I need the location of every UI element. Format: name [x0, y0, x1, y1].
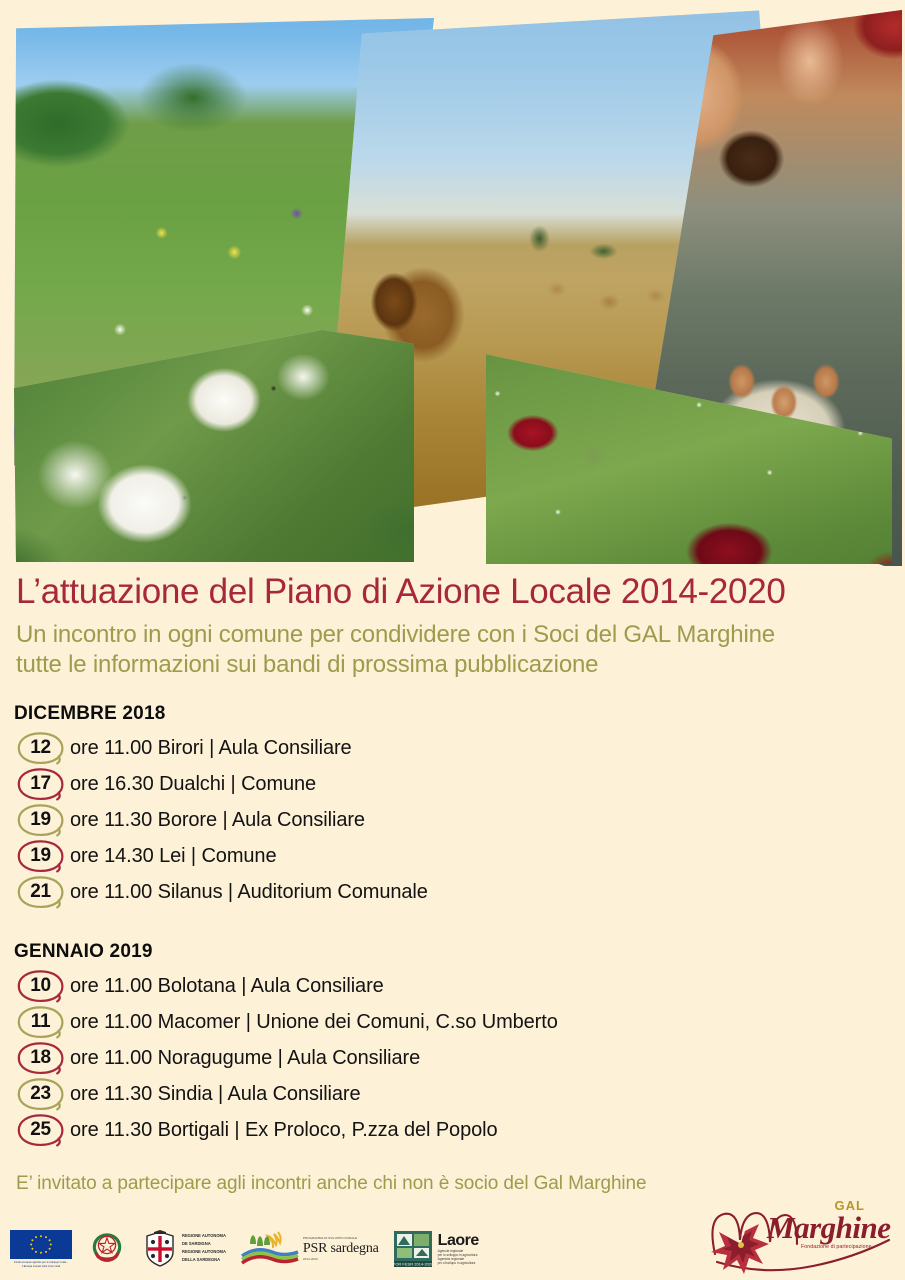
event-day-badge: 19 — [14, 802, 70, 838]
subtitle-line-1: Un incontro in ogni comune per condivide… — [16, 620, 896, 650]
month-heading-gennaio: GENNAIO 2019 — [14, 941, 153, 963]
event-row: 25ore 11.30 Bortigali | Ex Proloco, P.zz… — [14, 1112, 894, 1148]
laore-logo-text: Laore Agenzia regionale per lo sviluppo … — [438, 1233, 479, 1265]
event-details: ore 11.00 Silanus | Auditorium Comunale — [70, 881, 428, 904]
event-details: ore 11.00 Bolotana | Aula Consiliare — [70, 975, 384, 998]
european-union-flag-logo: Fondo europeo agricolo per lo sviluppo r… — [10, 1230, 72, 1267]
event-day-number: 18 — [30, 1047, 54, 1069]
event-day-number: 10 — [30, 975, 54, 997]
regione-sardegna-logo: REGIONE AUTONOMA DE SARDIGNA REGIONE AUT… — [142, 1230, 226, 1268]
event-list-dicembre: 12ore 11.00 Birori | Aula Consiliare17or… — [14, 730, 894, 910]
psr-sardegna-logo: PROGRAMMA DI SVILUPPO RURALE PSR sardegn… — [240, 1228, 379, 1270]
event-row: 19ore 11.30 Borore | Aula Consiliare — [14, 802, 894, 838]
italy-emblem-icon — [89, 1231, 125, 1263]
sardegna-line-2: DE SARDIGNA — [182, 1241, 226, 1246]
psr-logo-text: PROGRAMMA DI SVILUPPO RURALE PSR sardegn… — [303, 1237, 379, 1261]
laore-sub-4: pro s’isvilupu in agricultura — [438, 1261, 479, 1265]
event-row: 12ore 11.00 Birori | Aula Consiliare — [14, 730, 894, 766]
eu-stars-icon — [10, 1230, 72, 1259]
event-day-number: 25 — [30, 1119, 54, 1141]
event-row: 21ore 11.00 Silanus | Auditorium Comunal… — [14, 874, 894, 910]
eu-flag-icon — [10, 1230, 72, 1259]
event-day-number: 19 — [30, 809, 54, 831]
event-details: ore 11.30 Borore | Aula Consiliare — [70, 809, 365, 832]
psr-emblem-icon — [240, 1228, 300, 1270]
event-day-number: 21 — [30, 881, 54, 903]
institutional-logos: Fondo europeo agricolo per lo sviluppo r… — [10, 1222, 440, 1276]
photo-collage — [0, 0, 905, 566]
event-details: ore 11.00 Noragugume | Aula Consiliare — [70, 1047, 420, 1070]
month-heading-dicembre: DICEMBRE 2018 — [14, 703, 165, 725]
subtitle-line-2: tutte le informazioni sui bandi di pross… — [16, 650, 896, 680]
gal-brand-name: Marghine — [767, 1210, 890, 1246]
event-list-gennaio: 10ore 11.00 Bolotana | Aula Consiliare11… — [14, 968, 894, 1148]
event-day-badge: 21 — [14, 874, 70, 910]
sardegna-shield-icon — [142, 1230, 178, 1268]
event-details: ore 14.30 Lei | Comune — [70, 845, 276, 868]
laore-sardegna-logo: POR FESR 2014-2020 Laore Agenzia regiona… — [393, 1230, 479, 1268]
event-day-badge: 12 — [14, 730, 70, 766]
event-day-badge: 25 — [14, 1112, 70, 1148]
event-details: ore 11.30 Sindia | Aula Consiliare — [70, 1083, 361, 1106]
gal-tagline: Fondazione di partecipazione — [801, 1244, 872, 1250]
gal-marghine-logo: GAL Marghine Fondazione di partecipazion… — [693, 1192, 893, 1276]
event-details: ore 11.00 Birori | Aula Consiliare — [70, 737, 352, 760]
event-day-number: 23 — [30, 1083, 54, 1105]
event-row: 10ore 11.00 Bolotana | Aula Consiliare — [14, 968, 894, 1004]
event-day-number: 19 — [30, 845, 54, 867]
event-day-badge: 19 — [14, 838, 70, 874]
sardegna-line-4: DELLA SARDEGNA — [182, 1257, 226, 1262]
psr-years: 2014-2020 — [303, 1257, 379, 1261]
event-row: 18ore 11.00 Noragugume | Aula Consiliare — [14, 1040, 894, 1076]
svg-text:POR FESR 2014-2020: POR FESR 2014-2020 — [393, 1262, 433, 1267]
page-subtitle: Un incontro in ogni comune per condivide… — [16, 620, 896, 680]
event-day-number: 17 — [30, 773, 54, 795]
event-day-number: 12 — [30, 737, 54, 759]
event-day-badge: 23 — [14, 1076, 70, 1112]
event-day-badge: 18 — [14, 1040, 70, 1076]
psr-title: PSR sardegna — [303, 1241, 379, 1257]
poster-root: L’attuazione del Piano di Azione Locale … — [0, 0, 905, 1280]
laore-title: Laore — [438, 1233, 479, 1249]
event-details: ore 16.30 Dualchi | Comune — [70, 773, 316, 796]
italian-republic-emblem-logo — [86, 1231, 128, 1268]
event-details: ore 11.00 Macomer | Unione dei Comuni, C… — [70, 1011, 558, 1034]
eu-caption: Fondo europeo agricolo per lo sviluppo r… — [10, 1261, 72, 1267]
page-title: L’attuazione del Piano di Azione Locale … — [16, 572, 896, 612]
event-day-badge: 10 — [14, 968, 70, 1004]
laore-mark-icon: POR FESR 2014-2020 — [393, 1230, 433, 1268]
event-day-number: 11 — [31, 1011, 54, 1033]
event-details: ore 11.30 Bortigali | Ex Proloco, P.zza … — [70, 1119, 498, 1142]
event-day-badge: 17 — [14, 766, 70, 802]
sardegna-line-1: REGIONE AUTONOMA — [182, 1233, 226, 1238]
sardegna-line-3: REGIONE AUTONOMA — [182, 1249, 226, 1254]
event-day-badge: 11 — [14, 1004, 70, 1040]
event-row: 19ore 14.30 Lei | Comune — [14, 838, 894, 874]
event-row: 11ore 11.00 Macomer | Unione dei Comuni,… — [14, 1004, 894, 1040]
event-row: 23ore 11.30 Sindia | Aula Consiliare — [14, 1076, 894, 1112]
participation-note: E’ invitato a partecipare agli incontri … — [16, 1173, 646, 1195]
sardegna-logo-text: REGIONE AUTONOMA DE SARDIGNA REGIONE AUT… — [182, 1233, 226, 1266]
event-row: 17ore 16.30 Dualchi | Comune — [14, 766, 894, 802]
